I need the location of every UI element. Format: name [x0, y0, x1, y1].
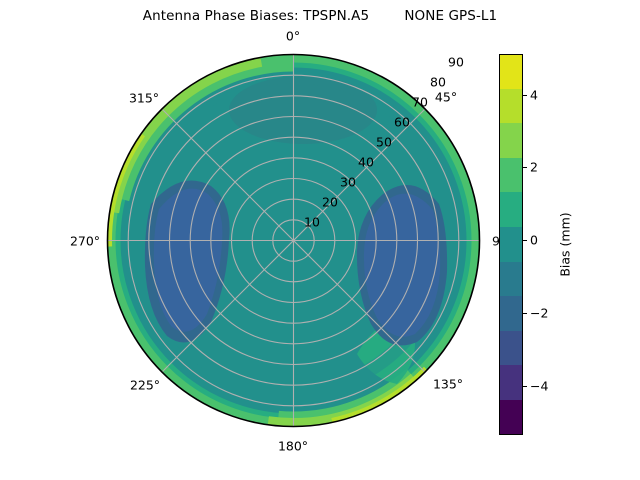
colorbar-tick-m4	[523, 386, 527, 387]
chart-title: Antenna Phase Biases: TPSPN.A5 NONE GPS-…	[0, 8, 640, 24]
colorbar-band	[499, 400, 523, 435]
figure-canvas: Antenna Phase Biases: TPSPN.A5 NONE GPS-…	[0, 0, 640, 480]
polar-axes[interactable]: 0° 45° 90 135° 180° 225° 270° 315° 10 20…	[107, 54, 480, 427]
colorbar-band	[499, 365, 523, 400]
azimuth-label-270: 270°	[70, 234, 100, 249]
colorbar-band	[499, 54, 523, 89]
colorbar-tick-2	[523, 167, 527, 168]
azimuth-label-180: 180°	[278, 439, 308, 454]
radial-label-30: 30	[340, 175, 356, 190]
colorbar-ticklabel-m2: −2	[530, 306, 548, 321]
polar-plot-svg	[107, 54, 480, 427]
colorbar-tick-m2	[523, 313, 527, 314]
radial-label-50: 50	[376, 135, 392, 150]
radial-label-40: 40	[358, 155, 374, 170]
azimuth-label-45: 45°	[435, 90, 457, 105]
colorbar-band	[499, 123, 523, 158]
radial-label-60: 60	[394, 115, 410, 130]
colorbar[interactable]	[499, 54, 523, 435]
colorbar-axis-label-text: Bias (mm)	[558, 212, 573, 276]
colorbar-axis-label: Bias (mm)	[555, 54, 575, 435]
azimuth-label-0: 0°	[286, 29, 300, 44]
colorbar-band	[499, 192, 523, 227]
azimuth-label-225: 225°	[130, 378, 160, 393]
colorbar-band	[499, 89, 523, 124]
colorbar-ticklabel-m4: −4	[530, 379, 548, 394]
azimuth-label-315: 315°	[129, 91, 159, 106]
colorbar-band	[499, 158, 523, 193]
colorbar-ticklabel-4: 4	[530, 88, 538, 103]
colorbar-band	[499, 296, 523, 331]
colorbar-ticklabel-2: 2	[530, 160, 538, 175]
radial-label-10: 10	[304, 215, 320, 230]
azimuth-label-135: 135°	[433, 377, 463, 392]
colorbar-ticklabel-0: 0	[530, 233, 538, 248]
colorbar-tick-0	[523, 240, 527, 241]
colorbar-tick-4	[523, 95, 527, 96]
colorbar-band	[499, 331, 523, 366]
radial-label-80: 80	[430, 75, 446, 90]
angular-gridlines	[108, 55, 480, 427]
radial-label-20: 20	[322, 195, 338, 210]
radial-label-70: 70	[412, 95, 428, 110]
radial-label-90: 90	[448, 55, 464, 70]
colorbar-band	[499, 227, 523, 262]
colorbar-band	[499, 262, 523, 297]
